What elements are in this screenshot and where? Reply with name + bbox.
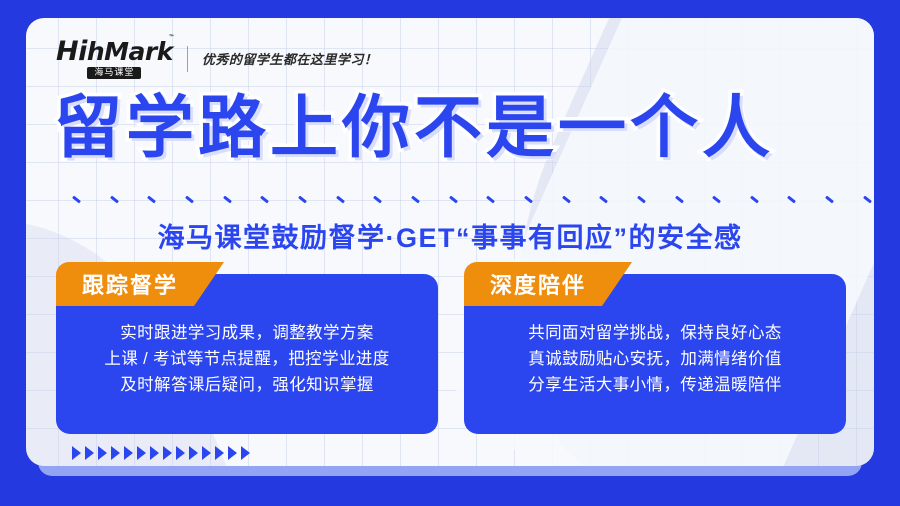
card-tab-label: 跟踪督学 (82, 268, 178, 300)
arrow-right-icon (150, 446, 159, 460)
card-tab-label: 深度陪伴 (490, 268, 586, 300)
brand-header: HihMark ™ 海马课堂 优秀的留学生都在这里学习！ (56, 38, 377, 79)
arrow-right-icon (163, 446, 172, 460)
tick-dash-icon (298, 195, 307, 203)
card-tab: 跟踪督学 (56, 262, 224, 306)
arrow-right-icon (111, 446, 120, 460)
tick-dash-icon (599, 195, 608, 203)
card-line: 实时跟进学习成果，调整教学方案 (70, 320, 424, 346)
arrow-right-icon (241, 446, 250, 460)
tick-dash-icon (373, 195, 382, 203)
tick-dash-icon (486, 195, 495, 203)
tick-dash-icon (411, 195, 420, 203)
tick-dash-icon (712, 195, 721, 203)
tick-dash-icon (825, 195, 834, 203)
arrow-right-icon (202, 446, 211, 460)
tick-dash-icon (260, 195, 269, 203)
arrow-decoration-row (72, 446, 250, 460)
tick-dash-icon (637, 195, 646, 203)
trademark-icon: ™ (168, 35, 175, 41)
card-body: 实时跟进学习成果，调整教学方案 上课 / 考试等节点提醒，把控学业进度 及时解答… (56, 320, 438, 398)
tick-dash-icon (449, 195, 458, 203)
tick-dash-icon (72, 195, 81, 203)
logo-wordmark: HihMark ™ (56, 38, 173, 65)
card-line: 分享生活大事小情，传递温暖陪伴 (478, 372, 832, 398)
tick-dash-icon (787, 195, 796, 203)
feature-cards: 跟踪督学 实时跟进学习成果，调整教学方案 上课 / 考试等节点提醒，把控学业进度… (56, 274, 846, 434)
tick-dash-icon (185, 195, 194, 203)
arrow-right-icon (124, 446, 133, 460)
feature-card: 深度陪伴 共同面对留学挑战，保持良好心态 真诚鼓励贴心安抚，加满情绪价值 分享生… (464, 274, 846, 434)
brand-tagline: 优秀的留学生都在这里学习！ (202, 49, 378, 68)
highmark-logo: HihMark ™ 海马课堂 (56, 38, 173, 79)
logo-word-part-2: hMark (87, 37, 173, 66)
tick-dash-icon (147, 195, 156, 203)
card-tab: 深度陪伴 (464, 262, 632, 306)
tick-dash-icon (750, 195, 759, 203)
arrow-right-icon (137, 446, 146, 460)
card-body: 共同面对留学挑战，保持良好心态 真诚鼓励贴心安抚，加满情绪价值 分享生活大事小情… (464, 320, 846, 398)
card-line: 共同面对留学挑战，保持良好心态 (478, 320, 832, 346)
card-line: 真诚鼓励贴心安抚，加满情绪价值 (478, 346, 832, 372)
tick-dash-icon (524, 195, 533, 203)
dashed-divider (72, 192, 872, 206)
card-line: 及时解答课后疑问，强化知识掌握 (70, 372, 424, 398)
arrow-right-icon (85, 446, 94, 460)
arrow-right-icon (215, 446, 224, 460)
arrow-right-icon (72, 446, 81, 460)
card-line: 上课 / 考试等节点提醒，把控学业进度 (70, 346, 424, 372)
tick-dash-icon (336, 195, 345, 203)
feature-card: 跟踪督学 实时跟进学习成果，调整教学方案 上课 / 考试等节点提醒，把控学业进度… (56, 274, 438, 434)
tick-dash-icon (110, 195, 119, 203)
arrow-right-icon (176, 446, 185, 460)
logo-word-part-1: Hi (56, 36, 87, 67)
tick-dash-icon (223, 195, 232, 203)
arrow-right-icon (228, 446, 237, 460)
logo-subtitle: 海马课堂 (87, 67, 141, 79)
tick-dash-icon (863, 195, 872, 203)
page-subtitle: 海马课堂鼓励督学·GET“事事有回应”的安全感 (26, 216, 874, 255)
arrow-right-icon (189, 446, 198, 460)
poster-root: HihMark ™ 海马课堂 优秀的留学生都在这里学习！ 留学路上你不是一个人 … (0, 0, 900, 506)
arrow-right-icon (98, 446, 107, 460)
header-divider (187, 46, 188, 72)
tick-dash-icon (562, 195, 571, 203)
tick-dash-icon (675, 195, 684, 203)
page-title: 留学路上你不是一个人 (54, 94, 854, 162)
content-panel: HihMark ™ 海马课堂 优秀的留学生都在这里学习！ 留学路上你不是一个人 … (26, 18, 874, 466)
